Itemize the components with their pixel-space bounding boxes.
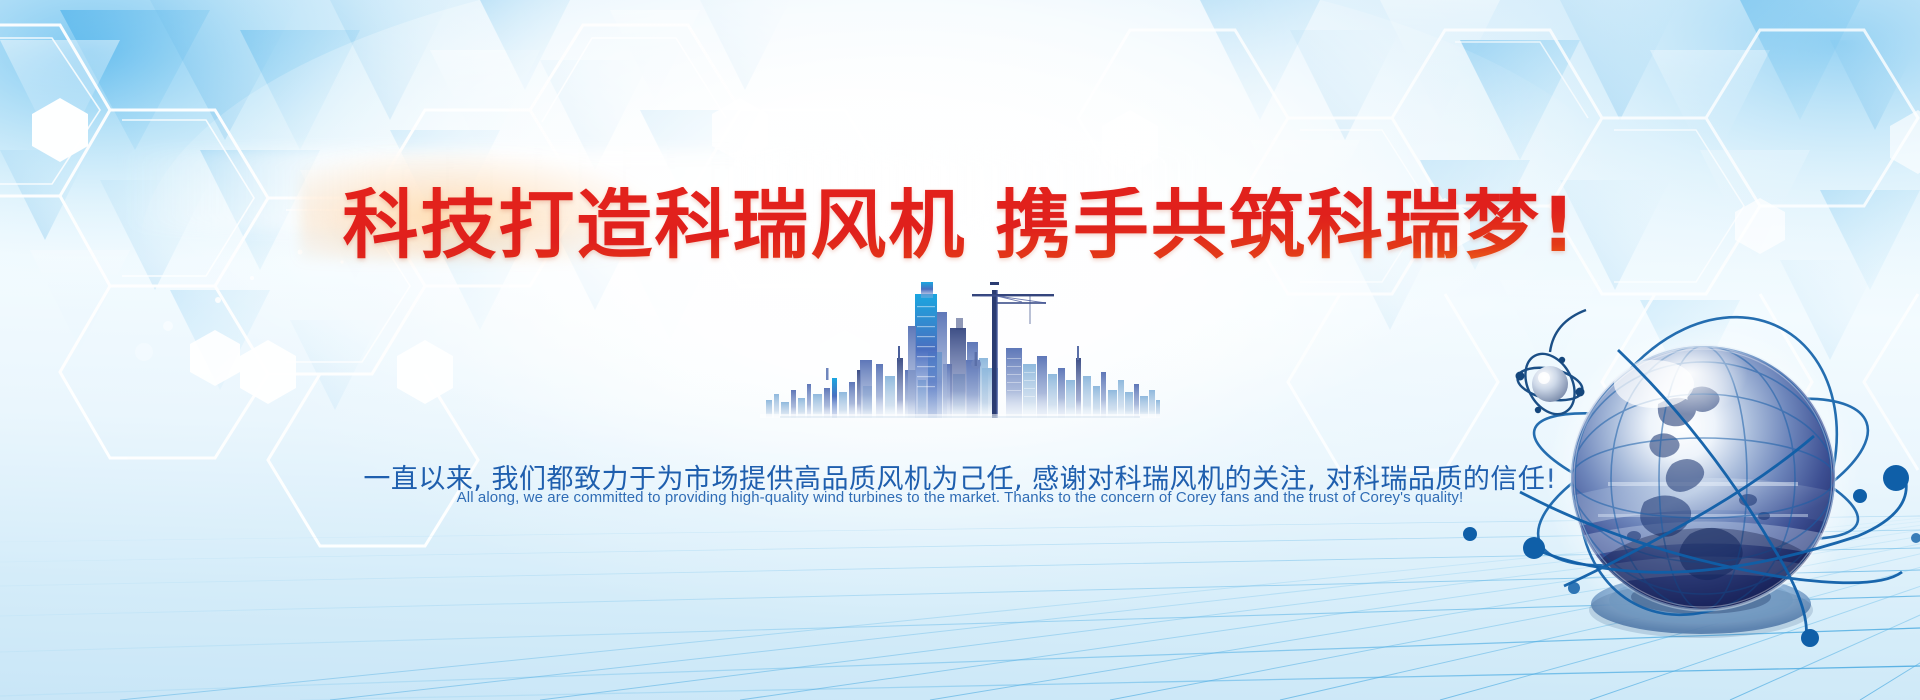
tech-banner: 科技打造科瑞风机 携手共筑科瑞梦! — [0, 0, 1920, 700]
page-title: 科技打造科瑞风机 携手共筑科瑞梦! — [0, 187, 1920, 263]
city-skyline-graphic — [760, 272, 1160, 418]
globe-graphic — [1458, 286, 1920, 666]
